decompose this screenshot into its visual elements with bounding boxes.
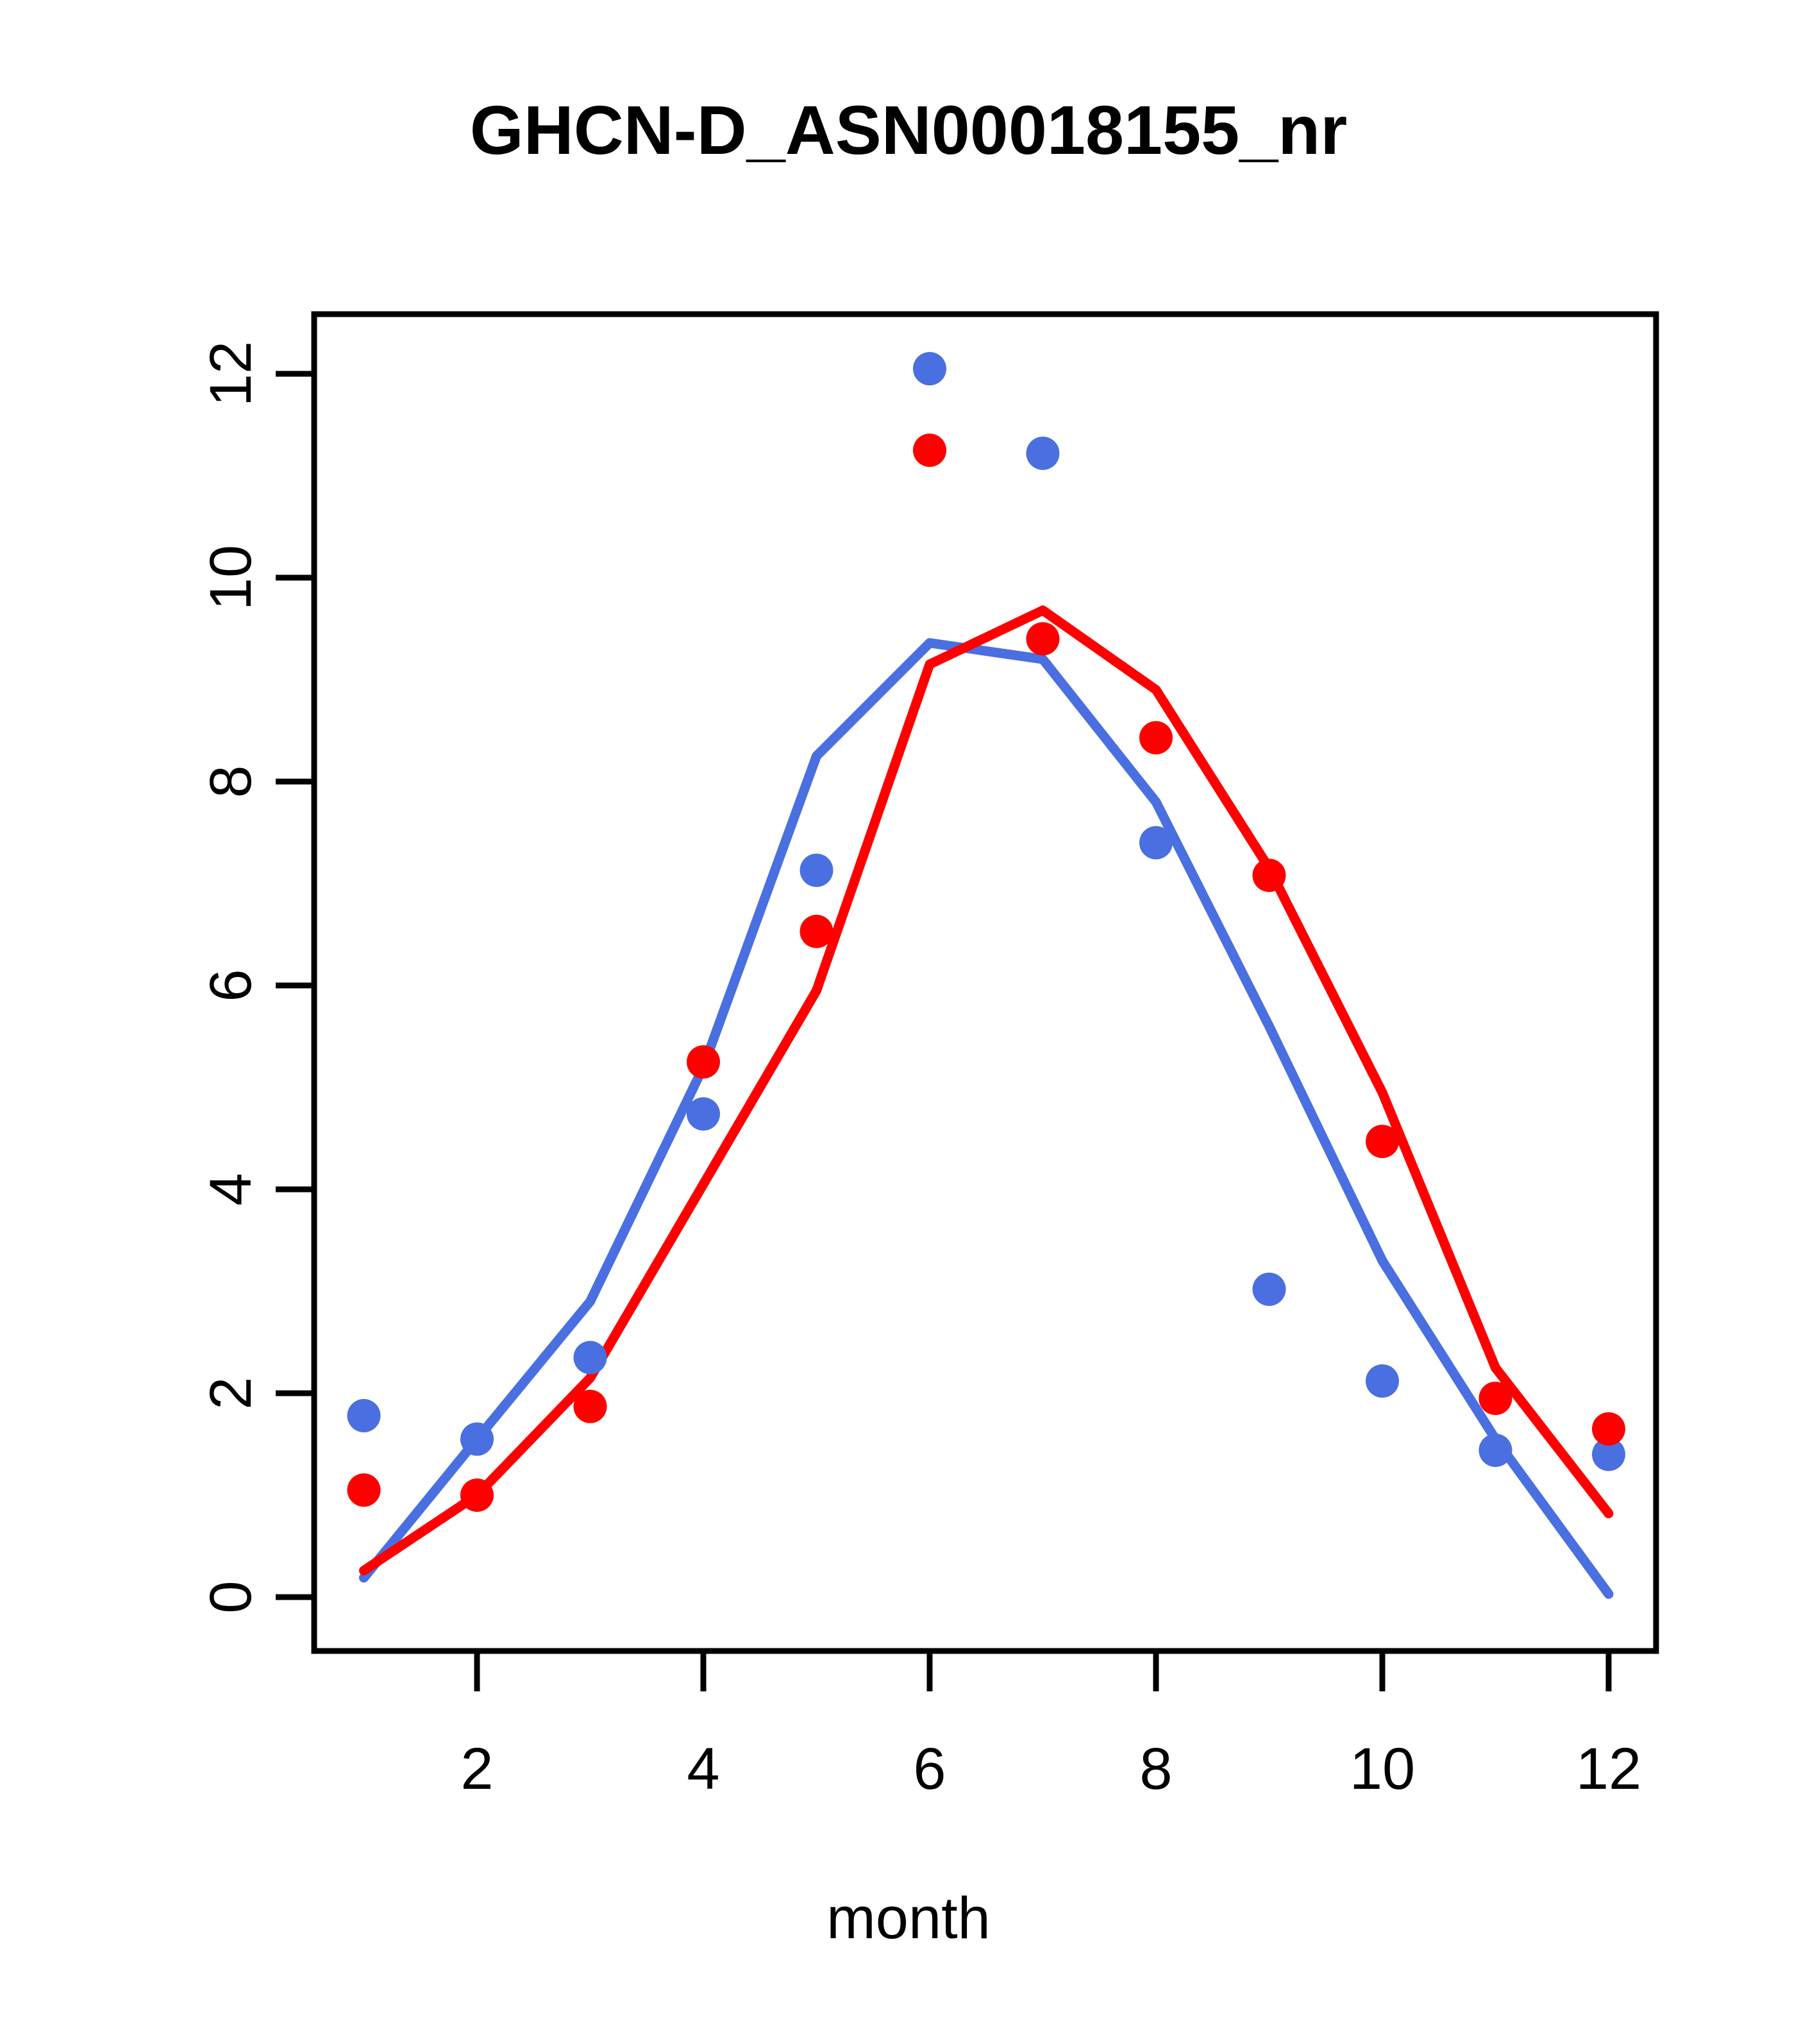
- data-point: [1026, 437, 1060, 470]
- data-point: [1253, 859, 1286, 892]
- x-axis-tick-label: 2: [460, 1736, 493, 1802]
- data-point: [687, 1097, 720, 1130]
- data-point: [687, 1045, 720, 1078]
- data-point: [800, 915, 833, 948]
- x-axis-tick-label: 10: [1350, 1736, 1415, 1802]
- plot-root: GHCN-D_ASN00018155_nr 024681012 24681012…: [0, 0, 1817, 2044]
- y-axis-tick-label: 2: [198, 1377, 264, 1409]
- chart-canvas: 024681012 24681012: [0, 0, 1817, 2044]
- data-point: [460, 1479, 494, 1512]
- x-axis-label: month: [0, 1885, 1817, 1952]
- y-axis: 024681012: [198, 341, 314, 1614]
- y-axis-tick-label: 10: [198, 545, 264, 610]
- y-axis-tick-label: 8: [198, 765, 264, 798]
- series-points-blue-points: [347, 352, 1626, 1471]
- data-point: [574, 1341, 607, 1374]
- data-point: [913, 433, 946, 467]
- series-line-red-line: [364, 610, 1609, 1571]
- data-point: [460, 1423, 494, 1456]
- series-line-blue-line: [364, 643, 1609, 1594]
- data-point: [1139, 826, 1173, 859]
- x-axis-tick-label: 6: [913, 1736, 946, 1802]
- data-point: [1479, 1382, 1512, 1415]
- data-point: [1253, 1273, 1286, 1306]
- data-point: [1139, 721, 1173, 755]
- data-point: [913, 352, 946, 385]
- data-point: [1592, 1412, 1625, 1446]
- y-axis-tick-label: 0: [198, 1580, 264, 1613]
- x-axis: 24681012: [460, 1651, 1641, 1802]
- data-point: [574, 1390, 607, 1423]
- y-axis-tick-label: 12: [198, 341, 264, 406]
- x-axis-tick-label: 12: [1576, 1736, 1641, 1802]
- y-axis-tick-label: 4: [198, 1173, 264, 1205]
- data-point: [1366, 1125, 1399, 1158]
- y-axis-tick-label: 6: [198, 969, 264, 1001]
- data-point: [347, 1473, 381, 1507]
- data-point: [347, 1399, 381, 1432]
- data-point: [1026, 622, 1060, 655]
- data-point: [1366, 1364, 1399, 1398]
- data-point: [800, 853, 833, 887]
- data-point: [1479, 1434, 1512, 1467]
- x-axis-tick-label: 4: [687, 1736, 719, 1802]
- x-axis-tick-label: 8: [1139, 1736, 1172, 1802]
- data-series-group: [347, 352, 1626, 1594]
